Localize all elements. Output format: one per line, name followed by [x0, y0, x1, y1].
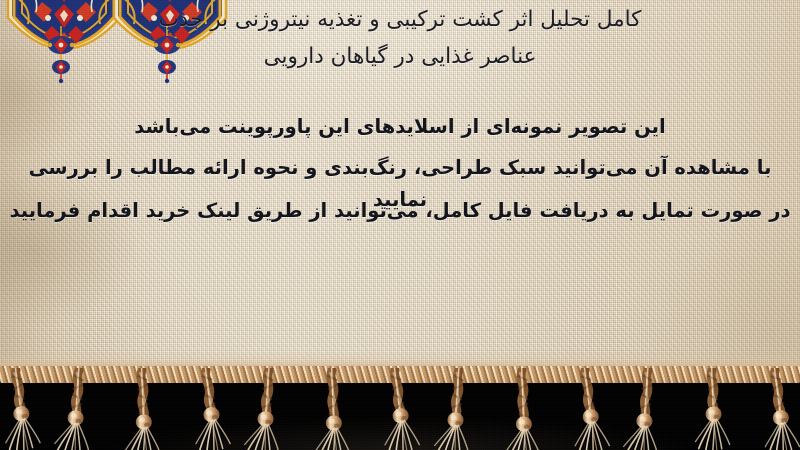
fringe-tassel — [682, 368, 746, 450]
fringe-tassel — [429, 368, 493, 450]
fringe-tassel — [365, 368, 429, 450]
page-title-line-1: کامل تحلیل اثر کشت ترکیبی و تغذیه نیتروژ… — [0, 1, 800, 38]
fringe-tassel — [176, 368, 240, 450]
slide-canvas: کامل تحلیل اثر کشت ترکیبی و تغذیه نیتروژ… — [0, 0, 800, 450]
slide-text-block: کامل تحلیل اثر کشت ترکیبی و تغذیه نیتروژ… — [0, 0, 800, 300]
fringe-tassel — [302, 368, 366, 450]
fringe-tassel — [0, 368, 50, 450]
fringe-tassel — [239, 368, 303, 450]
fringe-tassel — [618, 368, 682, 450]
fringe-tassel — [555, 368, 619, 450]
fringe-tassel — [112, 368, 176, 450]
fringe-tassel — [49, 368, 113, 450]
fringe-tassel — [745, 368, 800, 450]
fringe-tassel — [492, 368, 556, 450]
page-title-line-2: عناصر غذایی در گیاهان دارویی — [0, 38, 800, 75]
body-text-line-3: در صورت تمایل به دریافت فایل کامل، می‌تو… — [0, 195, 800, 227]
body-text-line-1: این تصویر نمونه‌ای از اسلایدهای این پاور… — [0, 111, 800, 143]
